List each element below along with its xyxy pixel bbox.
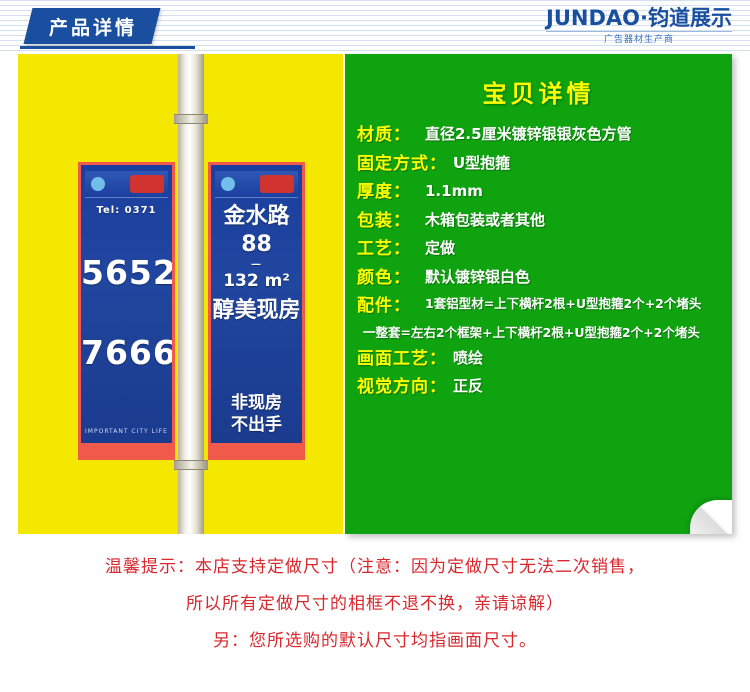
footer-notice: 温馨提示：本店支持定做尺寸（注意：因为定做尺寸无法二次销售， 所以所有定做尺寸的… [0,542,750,692]
spec-key: 包装： [357,212,411,232]
banner-left: Tel: 0371 5652 7666 IMPORTANT CITY LIFE [78,162,175,460]
spec-key: 工艺： [357,240,411,260]
banner-right: 金水路 88 — 132 m² 醇美现房 非现房 不出手 [208,162,305,460]
spec-value: 定做 [425,240,724,257]
spec-key: 厚度： [357,183,411,203]
spec-value: 直径2.5厘米镀锌银银灰色方管 [425,126,724,143]
brand-name-row: JUNDAO·钧道展示 [546,8,732,29]
banner-right-line-3: — [211,259,302,271]
spec-row: 包装： 木箱包装或者其他 [357,212,724,232]
banner-left-logo [85,171,168,198]
spec-key: 颜色： [357,269,411,289]
spec-row: 画面工艺： 喷绘 [357,350,724,370]
banner-left-badge [130,175,164,193]
spec-row: 固定方式： U型抱箍 [357,155,724,175]
section-tab-label: 产品详情 [34,13,152,40]
spec-value: 喷绘 [453,350,724,367]
pole-joint-bottom [174,460,208,470]
brand-divider [546,31,732,32]
spec-panel-title: 宝贝详情 [345,74,732,109]
brand-logo: JUNDAO·钧道展示 广告器材生产商 [546,8,732,45]
spec-accessory-note: 一整套=左右2个框架+上下横杆2根+U型抱箍2个+2个堵头 [363,322,724,341]
spec-key: 配件： [357,297,411,317]
spec-row: 配件： 1套铝型材=上下横杆2根+U型抱箍2个+2个堵头 [357,297,724,317]
banner-right-line-4: 132 m² [211,271,302,291]
banner-left-phone-label: Tel: 0371 [81,205,172,217]
spec-row: 厚度： 1.1mm [357,183,724,203]
banner-left-bottom-band [81,443,172,457]
header-underline [20,46,195,49]
banner-right-badge [260,175,294,193]
spec-value: 默认镀锌银白色 [425,269,724,286]
footer-line-2: 所以所有定做尺寸的相框不退不换，亲请谅解） [0,589,750,614]
spec-value: 正反 [453,378,724,395]
footer-line-3: 另：您所选购的默认尺寸均指画面尺寸。 [0,626,750,651]
banner-right-line-7: 不出手 [211,415,302,435]
product-photo: Tel: 0371 5652 7666 IMPORTANT CITY LIFE … [18,54,343,534]
pole-joint-top [174,114,208,124]
spec-key: 视觉方向： [357,378,447,398]
page-header: 产品详情 JUNDAO·钧道展示 广告器材生产商 [0,0,750,54]
spec-row: 颜色： 默认镀锌银白色 [357,269,724,289]
spec-panel: 宝贝详情 材质： 直径2.5厘米镀锌银银灰色方管 固定方式： U型抱箍 厚度： … [345,54,732,534]
brand-dot: · [640,6,648,30]
banner-right-line-6: 非现房 [211,393,302,413]
spec-value: 木箱包装或者其他 [425,212,724,229]
spec-key: 材质： [357,126,411,146]
banner-right-line-1: 金水路 [211,205,302,229]
spec-value: 1.1mm [425,183,724,200]
spec-row: 材质： 直径2.5厘米镀锌银银灰色方管 [357,126,724,146]
spec-list: 材质： 直径2.5厘米镀锌银银灰色方管 固定方式： U型抱箍 厚度： 1.1mm… [357,126,724,407]
banner-right-line-2: 88 [211,233,302,257]
product-photo-panel: Tel: 0371 5652 7666 IMPORTANT CITY LIFE … [18,54,343,534]
page-curl-corner [690,500,732,534]
spec-key: 固定方式： [357,155,447,175]
content-area: Tel: 0371 5652 7666 IMPORTANT CITY LIFE … [0,54,750,540]
banner-right-logo [215,171,298,198]
spec-value: U型抱箍 [453,155,724,172]
spec-row: 视觉方向： 正反 [357,378,724,398]
spec-value: 1套铝型材=上下横杆2根+U型抱箍2个+2个堵头 [425,297,724,311]
banner-right-line-5: 醇美现房 [211,299,302,323]
banner-left-footer: IMPORTANT CITY LIFE [81,428,172,435]
banner-right-bottom-band [211,443,302,457]
banner-left-number-2: 7666 [81,335,172,370]
banner-left-number-1: 5652 [81,255,172,290]
brand-name-en: JUNDAO [546,6,640,30]
footer-line-1: 温馨提示：本店支持定做尺寸（注意：因为定做尺寸无法二次销售， [0,552,750,577]
spec-row: 工艺： 定做 [357,240,724,260]
spec-key: 画面工艺： [357,350,447,370]
brand-tagline: 广告器材生产商 [546,36,732,45]
brand-name-zh: 钧道展示 [648,6,732,30]
